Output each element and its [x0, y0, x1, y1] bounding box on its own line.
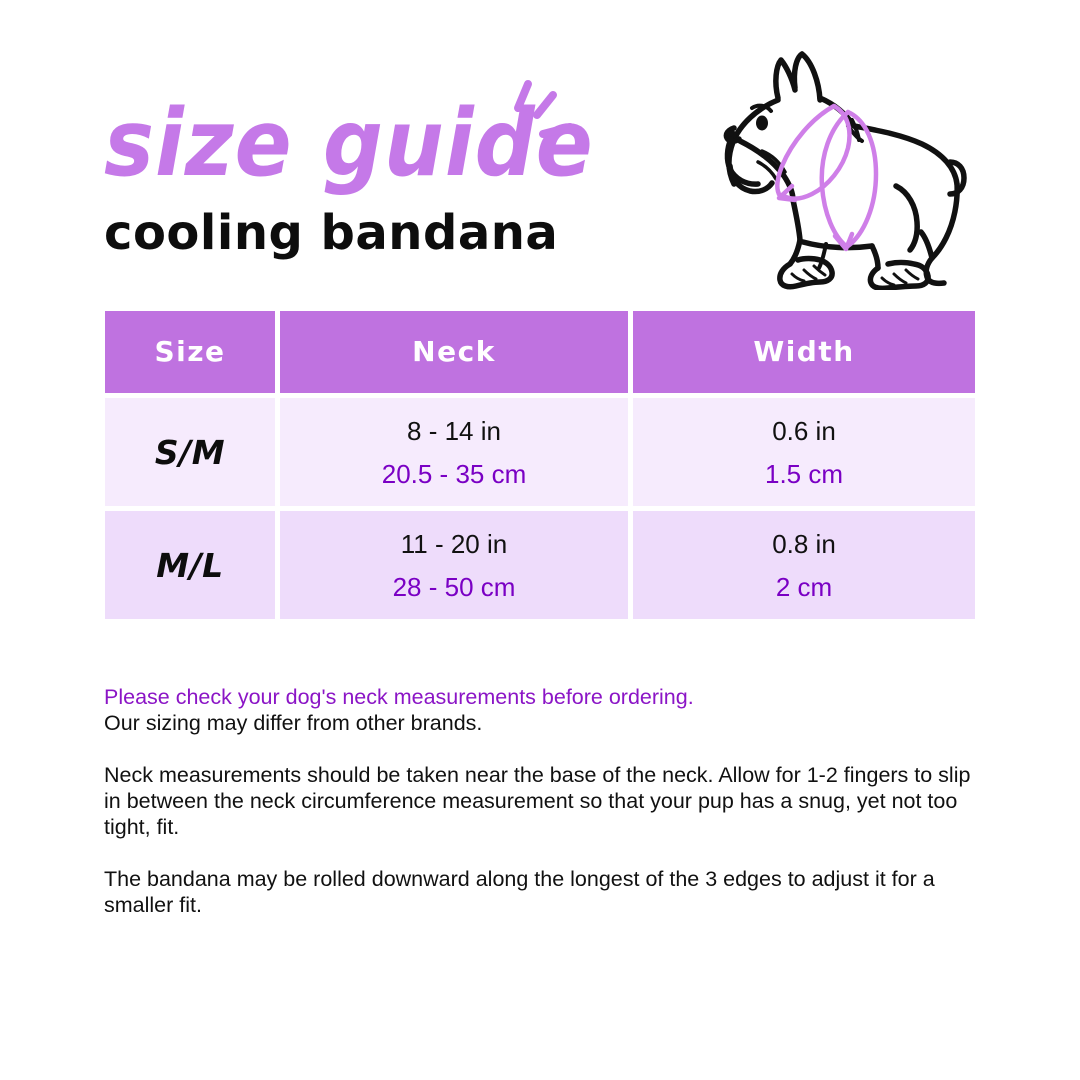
- table-row: M/L 11 - 20 in 28 - 50 cm 0.8 in 2 cm: [105, 511, 975, 619]
- sparkle-dashes-icon: [496, 72, 576, 152]
- table-header-cell-size: Size: [105, 311, 275, 393]
- width-centimeters: 1.5 cm: [765, 461, 843, 487]
- neck-centimeters: 20.5 - 35 cm: [382, 461, 527, 487]
- neck-inches: 11 - 20 in: [401, 531, 507, 557]
- cell-neck-sm: 8 - 14 in 20.5 - 35 cm: [280, 398, 628, 506]
- note-rolling-paragraph: The bandana may be rolled downward along…: [104, 866, 976, 918]
- note-measurement-paragraph: Neck measurements should be taken near t…: [104, 762, 976, 840]
- cell-neck-ml: 11 - 20 in 28 - 50 cm: [280, 511, 628, 619]
- size-guide-page: size guide cooling bandana: [0, 0, 1080, 1080]
- table-header-cell-neck: Neck: [280, 311, 628, 393]
- table-header-row: Size Neck Width: [105, 311, 975, 393]
- neck-centimeters: 28 - 50 cm: [393, 574, 516, 600]
- cell-size-sm: S/M: [105, 398, 275, 506]
- column-header-width: Width: [753, 338, 854, 366]
- cell-width-ml: 0.8 in 2 cm: [633, 511, 975, 619]
- neck-inches: 8 - 14 in: [407, 418, 501, 444]
- size-label: M/L: [156, 549, 223, 582]
- column-header-neck: Neck: [412, 338, 496, 366]
- table-header-cell-width: Width: [633, 311, 975, 393]
- page-subtitle: cooling bandana: [104, 204, 624, 262]
- cell-width-sm: 0.6 in 1.5 cm: [633, 398, 975, 506]
- header: size guide cooling bandana: [104, 86, 624, 262]
- column-header-size: Size: [154, 338, 225, 366]
- size-label: S/M: [155, 436, 225, 469]
- width-centimeters: 2 cm: [776, 574, 832, 600]
- width-inches: 0.8 in: [772, 531, 836, 557]
- size-table: Size Neck Width S/M 8 - 14 in 20.5 - 35 …: [105, 311, 975, 620]
- notes-section: Please check your dog's neck measurement…: [104, 684, 984, 918]
- title-row: size guide: [104, 86, 624, 190]
- french-bulldog-line-art-icon: [700, 38, 985, 290]
- note-highlight-line: Please check your dog's neck measurement…: [104, 684, 984, 710]
- table-row: S/M 8 - 14 in 20.5 - 35 cm 0.6 in 1.5 cm: [105, 398, 975, 506]
- cell-size-ml: M/L: [105, 511, 275, 619]
- width-inches: 0.6 in: [772, 418, 836, 444]
- note-sizing-line: Our sizing may differ from other brands.: [104, 710, 984, 736]
